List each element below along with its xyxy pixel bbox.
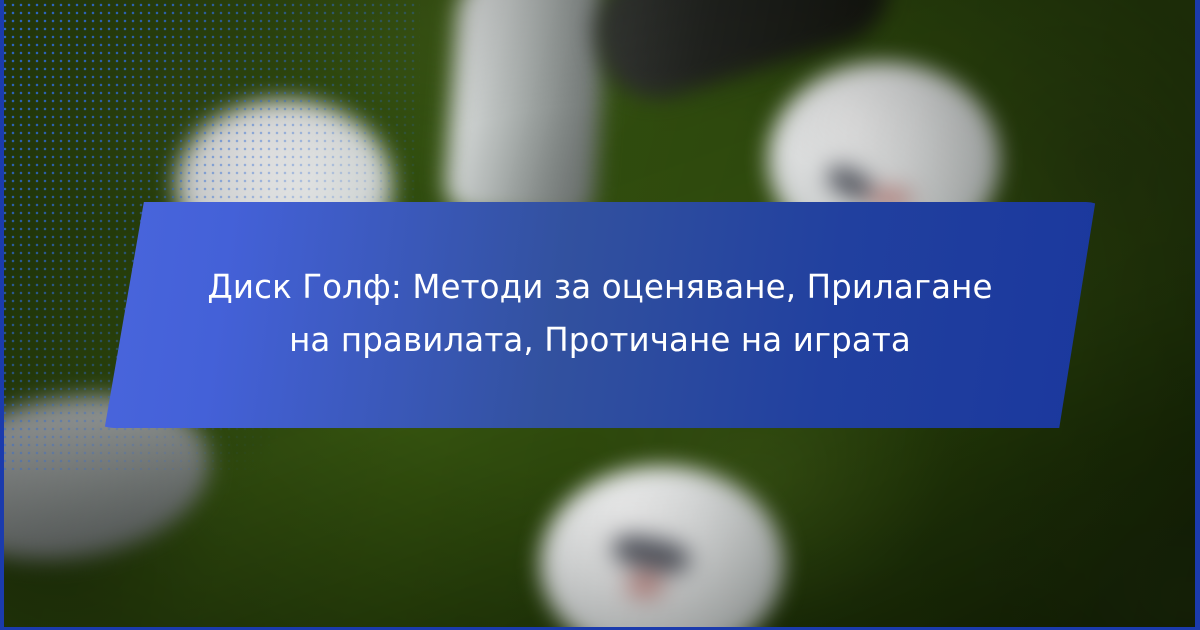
page-title: Диск Голф: Методи за оценяване, Прилаган… [160,261,1040,366]
title-card: Диск Голф: Методи за оценяване, Прилаган… [84,202,1116,428]
title-card-inner: Диск Голф: Методи за оценяване, Прилаган… [160,261,1040,368]
frame-edge-right [1195,0,1200,630]
page-root: Диск Голф: Методи за оценяване, Прилаган… [0,0,1200,630]
frame-edge-left [0,0,4,630]
